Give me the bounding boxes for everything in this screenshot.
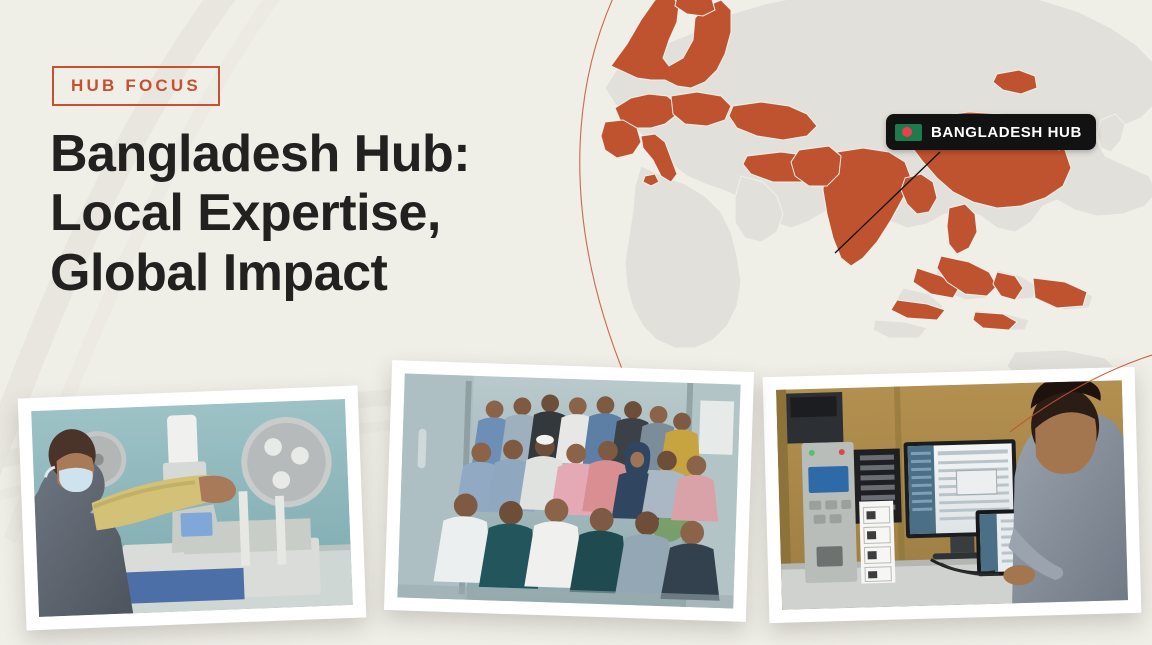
world-map-svg	[545, 0, 1152, 390]
hub-badge-label: BANGLADESH HUB	[931, 125, 1082, 140]
headline-line-1: Bangladesh Hub:	[50, 125, 590, 184]
photo-engineer-workstation	[763, 367, 1142, 623]
photo-operator-reel-machine	[18, 386, 367, 631]
page-title: Bangladesh Hub: Local Expertise, Global …	[50, 125, 590, 303]
bangladesh-hub-badge[interactable]: BANGLADESH HUB	[886, 114, 1096, 150]
banner-canvas: HUB FOCUS Bangladesh Hub: Local Expertis…	[0, 0, 1152, 645]
photo-operator-reel-machine-image	[31, 399, 353, 617]
headline-line-3: Global Impact	[50, 244, 590, 303]
eyebrow-label: HUB FOCUS	[71, 76, 201, 95]
photo-team-group-image	[397, 373, 740, 608]
bangladesh-flag-icon	[895, 124, 922, 141]
headline-line-2: Local Expertise,	[50, 184, 590, 243]
world-map	[545, 0, 1152, 390]
photo-team-group	[384, 360, 754, 622]
photo-engineer-workstation-image	[776, 380, 1128, 610]
eyebrow-badge: HUB FOCUS	[52, 66, 220, 106]
